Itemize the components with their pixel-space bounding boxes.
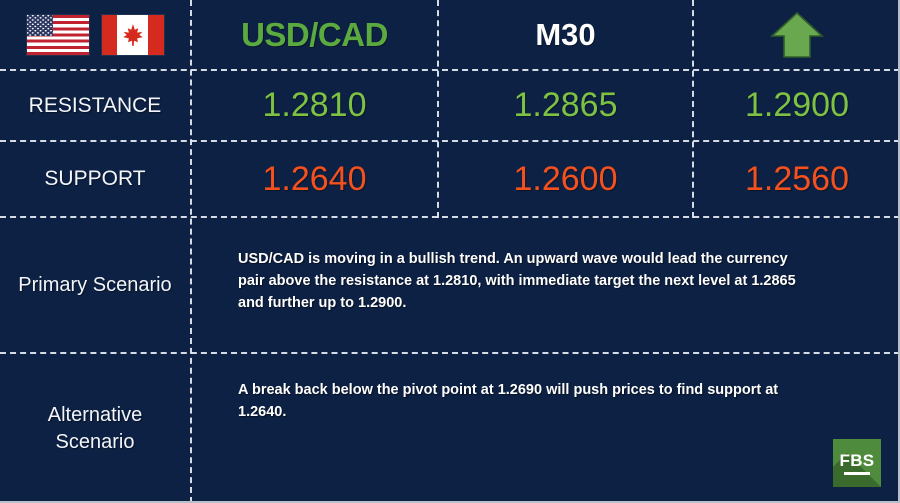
forex-analysis-card: USD/CAD M30 RESISTANCE 1.2810 1.2865 1.2… bbox=[0, 0, 900, 503]
resistance-value-2: 1.2865 bbox=[514, 86, 618, 125]
fbs-logo: FBS bbox=[833, 439, 881, 487]
maple-leaf-icon bbox=[120, 22, 146, 48]
fbs-logo-underline bbox=[844, 472, 870, 475]
arrow-up-icon bbox=[769, 10, 825, 60]
currency-pair-title: USD/CAD bbox=[241, 16, 388, 54]
support-value-2: 1.2600 bbox=[514, 160, 618, 199]
resistance-label: RESISTANCE bbox=[29, 94, 162, 118]
primary-scenario-text: USD/CAD is moving in a bullish trend. An… bbox=[238, 248, 813, 314]
support-value-1: 1.2640 bbox=[263, 160, 367, 199]
trend-cell bbox=[694, 0, 900, 69]
flag-us-canton bbox=[27, 15, 53, 37]
resistance-label-cell: RESISTANCE bbox=[0, 71, 190, 140]
fbs-logo-mark: FBS bbox=[833, 439, 881, 487]
alternative-scenario-label: Alternative Scenario bbox=[0, 402, 190, 456]
alternative-scenario-text: A break back below the pivot point at 1.… bbox=[238, 379, 788, 423]
support-value-1-cell: 1.2640 bbox=[192, 142, 437, 216]
primary-scenario-label-cell: Primary Scenario bbox=[0, 218, 190, 352]
primary-scenario-label: Primary Scenario bbox=[10, 272, 179, 299]
flag-united-states-icon bbox=[27, 15, 89, 55]
fbs-logo-text: FBS bbox=[840, 452, 875, 469]
resistance-value-3: 1.2900 bbox=[745, 86, 849, 125]
support-value-2-cell: 1.2600 bbox=[439, 142, 692, 216]
resistance-value-3-cell: 1.2900 bbox=[694, 71, 900, 140]
resistance-value-2-cell: 1.2865 bbox=[439, 71, 692, 140]
timeframe-cell: M30 bbox=[439, 0, 692, 69]
resistance-value-1-cell: 1.2810 bbox=[192, 71, 437, 140]
support-value-3-cell: 1.2560 bbox=[694, 142, 900, 216]
alternative-scenario-label-cell: Alternative Scenario bbox=[0, 354, 190, 503]
resistance-value-1: 1.2810 bbox=[263, 86, 367, 125]
flag-ca-bar-left bbox=[102, 15, 118, 55]
flag-ca-bar-right bbox=[148, 15, 164, 55]
currency-pair-cell: USD/CAD bbox=[192, 0, 437, 69]
flag-canada-icon bbox=[102, 15, 164, 55]
support-value-3: 1.2560 bbox=[745, 160, 849, 199]
support-label-cell: SUPPORT bbox=[0, 142, 190, 216]
timeframe-title: M30 bbox=[535, 17, 595, 53]
support-label: SUPPORT bbox=[44, 167, 145, 191]
currency-flags bbox=[0, 0, 190, 69]
